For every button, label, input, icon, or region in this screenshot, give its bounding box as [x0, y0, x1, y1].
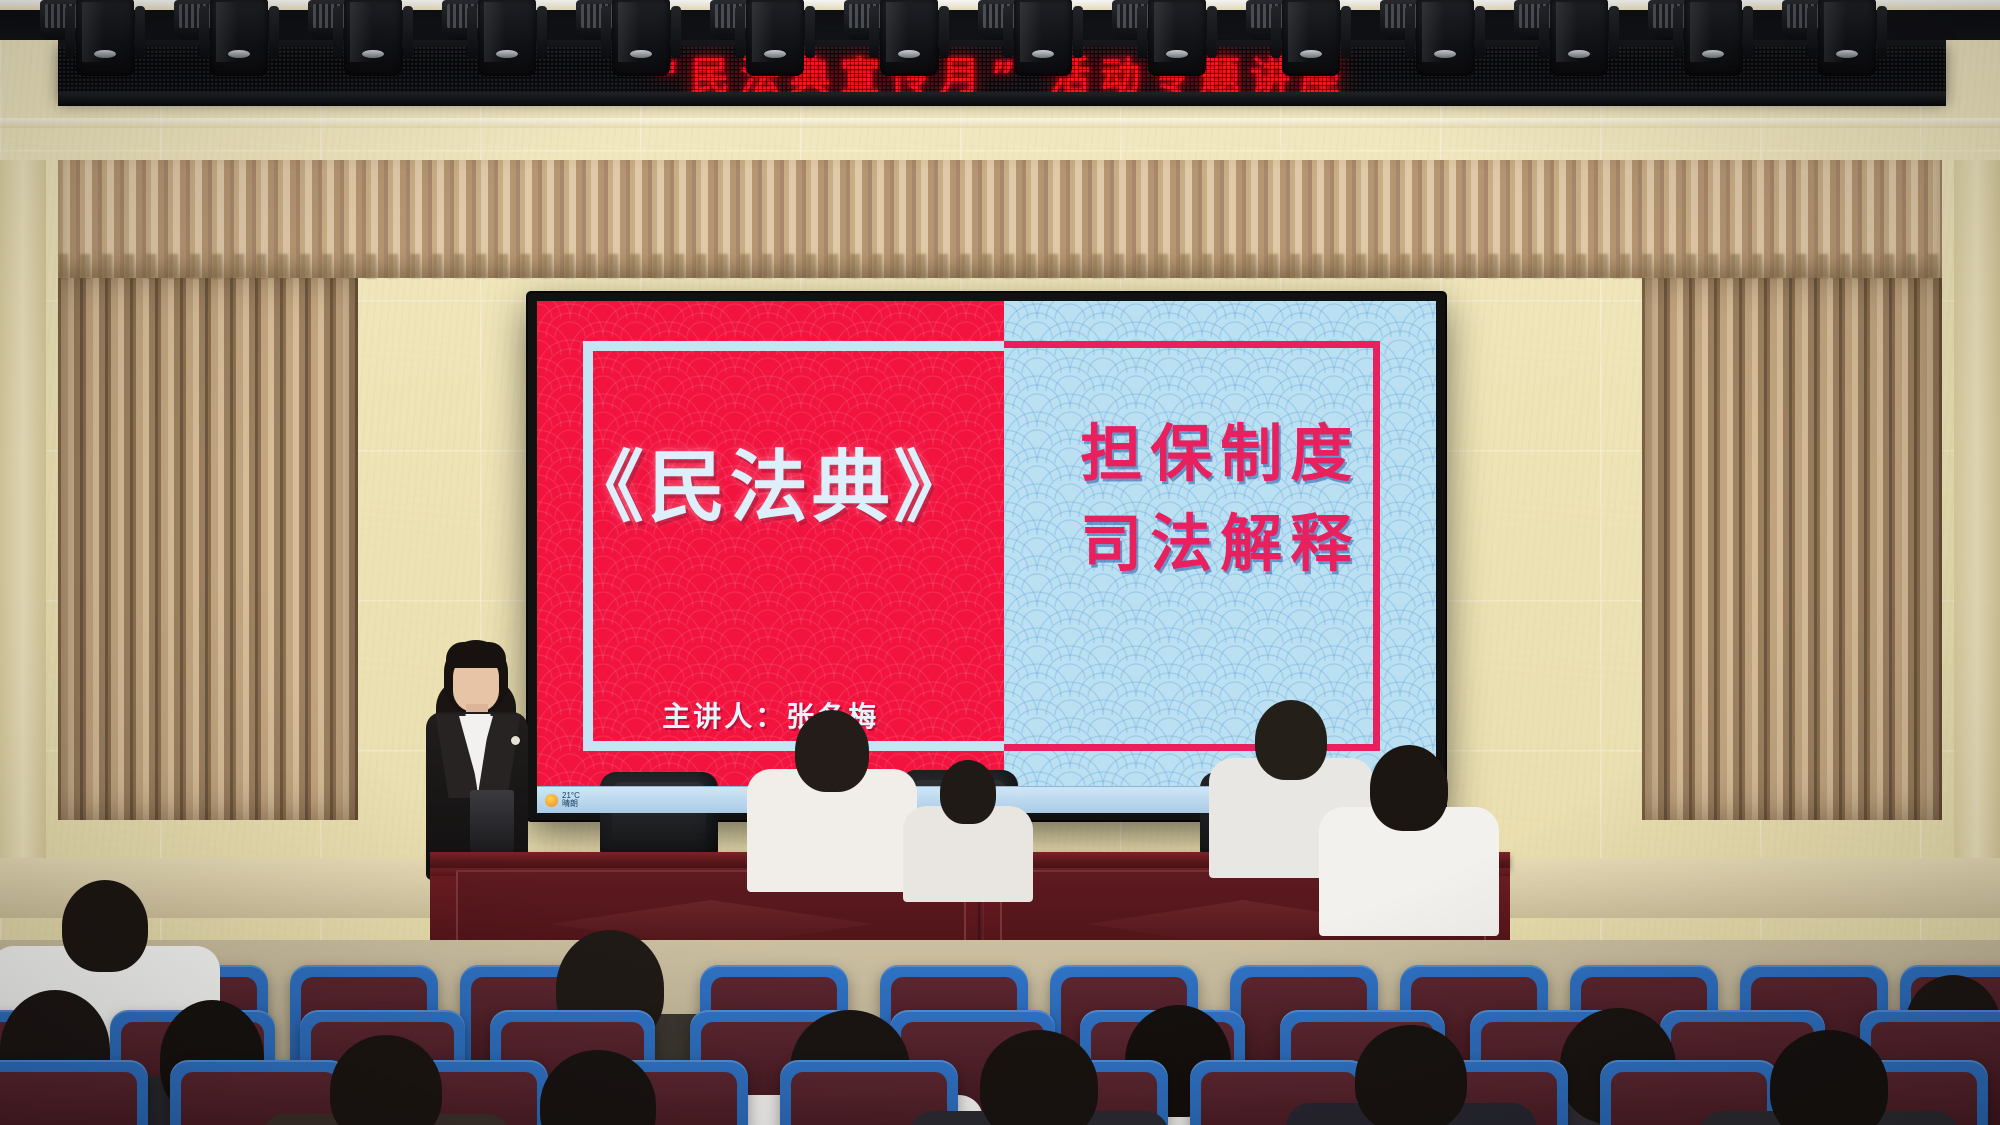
- audience-person-8-head: [795, 710, 869, 792]
- slide-red-pane: 《民法典》 主讲人：张冬梅: [537, 301, 1004, 813]
- truss-lower-rail: [58, 92, 1946, 106]
- stage-light-bolt: [1434, 50, 1456, 58]
- stage-light-bolt: [1702, 50, 1724, 58]
- right-wall-pillar: [1954, 160, 2000, 860]
- audience-seat-r3-c1[interactable]: [0, 1060, 148, 1125]
- stage-light-bolt: [764, 50, 786, 58]
- side-equipment-box: [470, 790, 514, 860]
- stage-light-bolt: [496, 50, 518, 58]
- stage-light-bolt: [898, 50, 920, 58]
- stage-light-2: [210, 0, 268, 76]
- sun-icon: [545, 794, 558, 807]
- audience-person-14-head: [1355, 1025, 1467, 1125]
- audience-person-13-head: [1370, 745, 1448, 831]
- curtain-drape-right: [1642, 272, 1942, 820]
- slide-inner-border-blue: [583, 341, 1004, 751]
- audience-person-1-head: [62, 880, 148, 972]
- slide-subtitle-line-1: 担保制度: [1004, 409, 1436, 499]
- slide-title: 《民法典》: [537, 425, 1004, 537]
- presenter-fringe: [446, 642, 506, 668]
- stage-light-bolt: [1166, 50, 1188, 58]
- slide-subtitle-block: 担保制度 司法解释: [1004, 409, 1436, 589]
- stage-light-11: [1416, 0, 1474, 76]
- stage-light-5: [612, 0, 670, 76]
- audience-person-9-head: [940, 760, 996, 824]
- stage-light-12: [1550, 0, 1608, 76]
- slide-subtitle-line-2: 司法解释: [1004, 499, 1436, 589]
- stage-curtain-valance-span: [58, 160, 1942, 280]
- stage-light-7: [880, 0, 938, 76]
- stage-light-bolt: [94, 50, 116, 58]
- stage-light-3: [344, 0, 402, 76]
- stage-light-10: [1282, 0, 1340, 76]
- presenter-lapel-pin: [511, 736, 520, 745]
- stage-light-bolt: [362, 50, 384, 58]
- stage-light-6: [746, 0, 804, 76]
- slide-speaker-line: 主讲人：张冬梅: [537, 695, 1004, 735]
- stage-light-bolt: [1032, 50, 1054, 58]
- stage-light-14: [1818, 0, 1876, 76]
- left-wall-pillar: [0, 160, 46, 860]
- stage-light-4: [478, 0, 536, 76]
- stage-light-bolt: [228, 50, 250, 58]
- stage-light-bolt: [1300, 50, 1322, 58]
- weather-description: 晴朗: [562, 800, 580, 808]
- stage-light-9: [1148, 0, 1206, 76]
- slide-blue-pane: 担保制度 司法解释: [1004, 301, 1436, 813]
- seat-cushion: [0, 1072, 137, 1125]
- stage-light-bolt: [1568, 50, 1590, 58]
- stage-light-8: [1014, 0, 1072, 76]
- stage-light-1: [76, 0, 134, 76]
- wall-molding: [0, 118, 2000, 128]
- audience-person-12-head: [1255, 700, 1327, 780]
- podium-chair-1: [600, 772, 718, 858]
- curtain-valance-center: [58, 160, 1942, 278]
- curtain-drape-left: [58, 272, 358, 820]
- stage-light-bolt: [1836, 50, 1858, 58]
- auditorium-lecture-photo: “民法典宣传月” 活动专题讲座 《民法典》 主讲人：张冬梅 担保制度 司法解释: [0, 0, 2000, 1125]
- taskbar-weather-widget[interactable]: 21°C 晴朗: [537, 792, 588, 809]
- stage-light-bolt: [630, 50, 652, 58]
- stage-light-13: [1684, 0, 1742, 76]
